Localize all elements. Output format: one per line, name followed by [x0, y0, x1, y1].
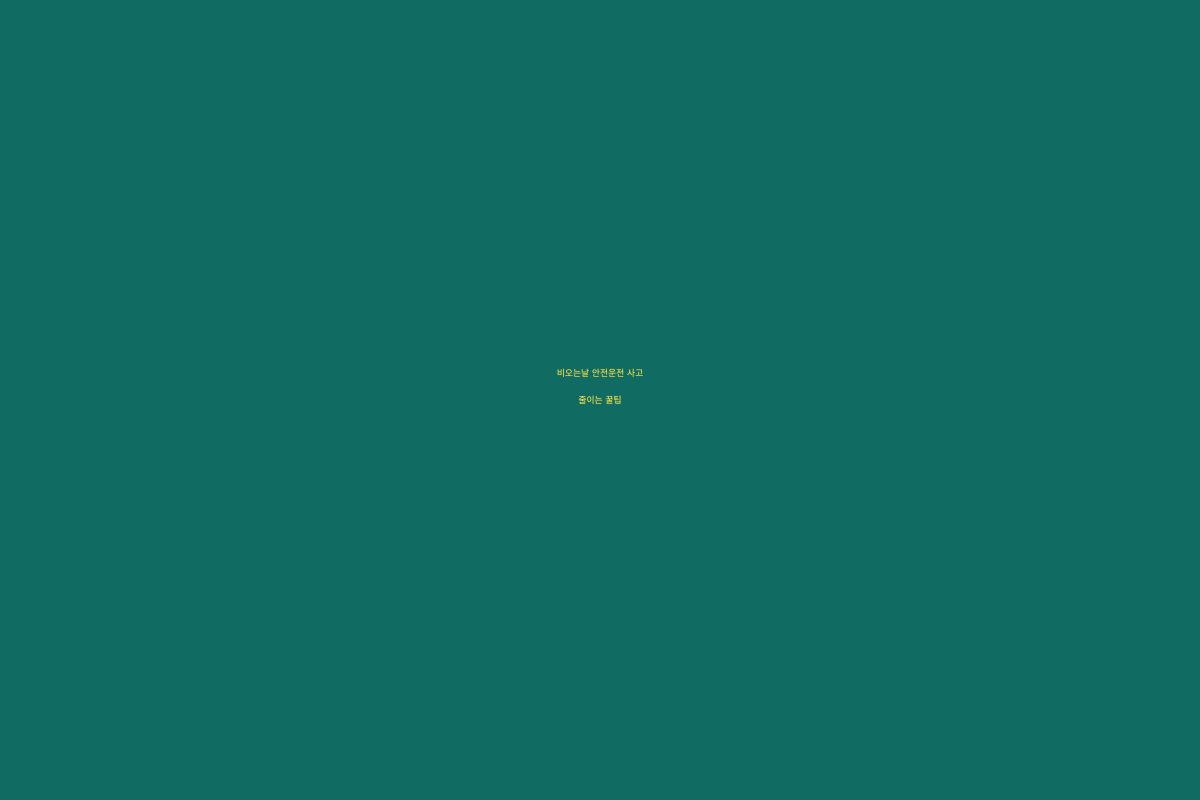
- headline-line-1: 비오는날 안전운전 사고: [0, 370, 1200, 379]
- headline: 비오는날 안전운전 사고 줄이는 꿀팁: [0, 370, 1200, 406]
- headline-line-2: 줄이는 꿀팁: [0, 397, 1200, 406]
- title-card: 비오는날 안전운전 사고 줄이는 꿀팁: [0, 0, 1200, 800]
